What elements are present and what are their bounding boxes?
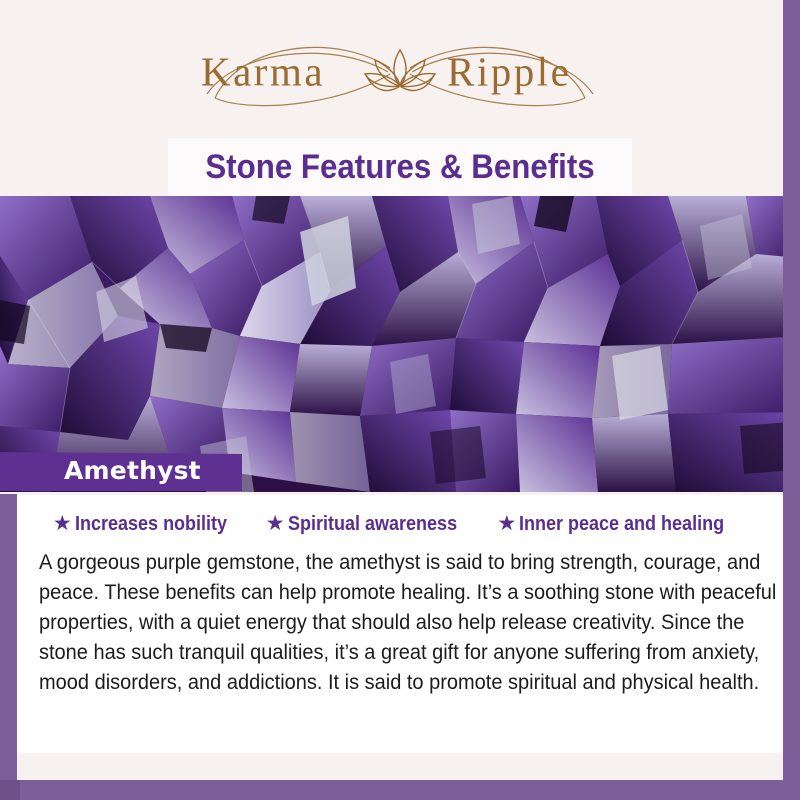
stone-details-card: ★ Increases nobility ★ Spiritual awarene… bbox=[17, 495, 783, 753]
brand-name-right: Ripple bbox=[447, 52, 571, 93]
brand-name-left: Karma bbox=[201, 52, 325, 93]
brand-logo: Karma Ripple bbox=[185, 28, 615, 116]
frame-top-right bbox=[783, 0, 800, 19]
page-title-band: Stone Features & Benefits bbox=[168, 138, 632, 196]
frame-bottom bbox=[0, 780, 800, 800]
brand-header: Karma Ripple bbox=[0, 0, 800, 140]
star-icon: ★ bbox=[53, 513, 72, 534]
feature-label: Increases nobility bbox=[75, 513, 227, 536]
star-icon: ★ bbox=[266, 513, 285, 534]
frame-right bbox=[783, 18, 800, 780]
lotus-icon bbox=[365, 50, 435, 90]
feature-item-spiritual-awareness: ★ Spiritual awareness bbox=[266, 513, 476, 536]
feature-label: Spiritual awareness bbox=[288, 513, 457, 536]
feature-item-inner-peace: ★ Inner peace and healing bbox=[497, 513, 747, 536]
infographic-page: Karma Ripple Stone Features & Benefits bbox=[0, 0, 800, 800]
feature-item-nobility: ★ Increases nobility bbox=[53, 513, 244, 536]
page-title: Stone Features & Benefits bbox=[187, 138, 614, 196]
amethyst-crystal-image bbox=[0, 196, 800, 492]
stone-name: Amethyst bbox=[64, 456, 201, 485]
feature-label: Inner peace and healing bbox=[519, 513, 724, 536]
stone-description: A gorgeous purple gemstone, the amethyst… bbox=[39, 547, 778, 697]
stone-name-banner: Amethyst bbox=[0, 452, 242, 491]
frame-left bbox=[0, 494, 17, 780]
stone-photo bbox=[0, 196, 800, 492]
card-bottom-spacer bbox=[17, 753, 783, 780]
feature-list: ★ Increases nobility ★ Spiritual awarene… bbox=[17, 513, 783, 536]
star-icon: ★ bbox=[497, 513, 516, 534]
frame-bottom-left-notch bbox=[0, 780, 20, 800]
